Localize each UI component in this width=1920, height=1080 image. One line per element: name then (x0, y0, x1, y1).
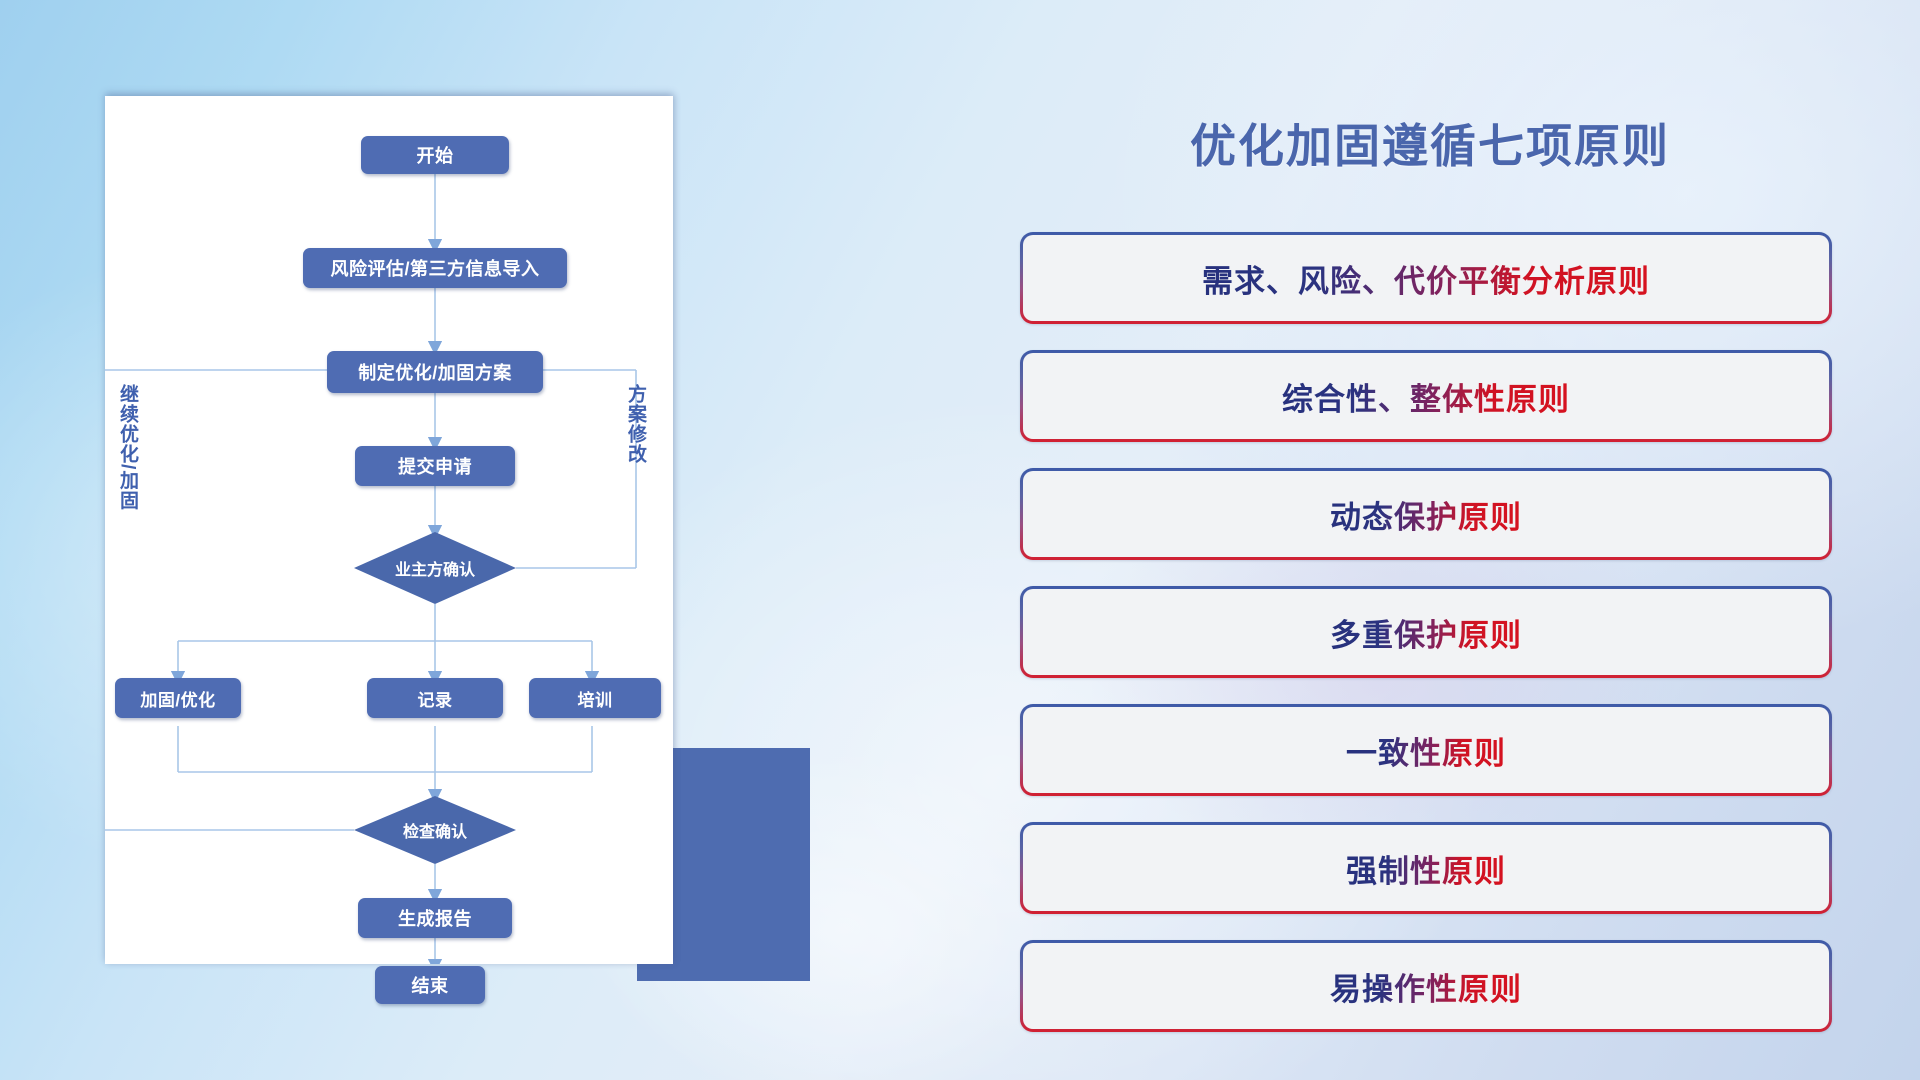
principles-panel: 优化加固遵循七项原则 需求、风险、代价平衡分析原则 综合性、整体性原则 动态保护… (1020, 0, 1920, 1080)
flow-node-record[interactable]: 记录 (367, 678, 503, 718)
flow-node-start[interactable]: 开始 (361, 136, 509, 174)
principle-card-2[interactable]: 综合性、整体性原则 (1020, 350, 1832, 442)
flow-edge-label-plan-revision: 方案修改 (625, 384, 645, 464)
principle-label-4: 多重保护原则 (1330, 610, 1522, 655)
principle-label-5: 一致性原则 (1346, 728, 1506, 773)
principle-card-4[interactable]: 多重保护原则 (1020, 586, 1832, 678)
principle-card-7[interactable]: 易操作性原则 (1020, 940, 1832, 1032)
principles-list: 需求、风险、代价平衡分析原则 综合性、整体性原则 动态保护原则 多重保护原则 一… (1020, 232, 1832, 1058)
flowchart-card: 开始 风险评估/第三方信息导入 制定优化/加固方案 提交申请 业主方确认 加固/… (105, 96, 673, 964)
principle-label-6: 强制性原则 (1346, 846, 1506, 891)
flow-node-reinforce-optimize[interactable]: 加固/优化 (115, 678, 241, 718)
flow-node-submit-application[interactable]: 提交申请 (355, 446, 515, 486)
panel-title: 优化加固遵循七项原则 (1020, 110, 1840, 176)
flow-edge-label-continue-optimize: 继续优化/加固 (117, 384, 137, 510)
principle-label-7: 易操作性原则 (1330, 964, 1522, 1009)
flow-node-end[interactable]: 结束 (375, 966, 485, 1004)
principle-card-5[interactable]: 一致性原则 (1020, 704, 1832, 796)
principle-card-1[interactable]: 需求、风险、代价平衡分析原则 (1020, 232, 1832, 324)
principle-label-3: 动态保护原则 (1330, 492, 1522, 537)
principle-label-2: 综合性、整体性原则 (1282, 374, 1570, 419)
principle-card-6[interactable]: 强制性原则 (1020, 822, 1832, 914)
flow-node-generate-report[interactable]: 生成报告 (358, 898, 512, 938)
flow-node-risk-assessment[interactable]: 风险评估/第三方信息导入 (303, 248, 567, 288)
flow-node-make-plan[interactable]: 制定优化/加固方案 (327, 351, 543, 393)
flow-node-training[interactable]: 培训 (529, 678, 661, 718)
principle-label-1: 需求、风险、代价平衡分析原则 (1202, 256, 1650, 301)
principle-card-3[interactable]: 动态保护原则 (1020, 468, 1832, 560)
